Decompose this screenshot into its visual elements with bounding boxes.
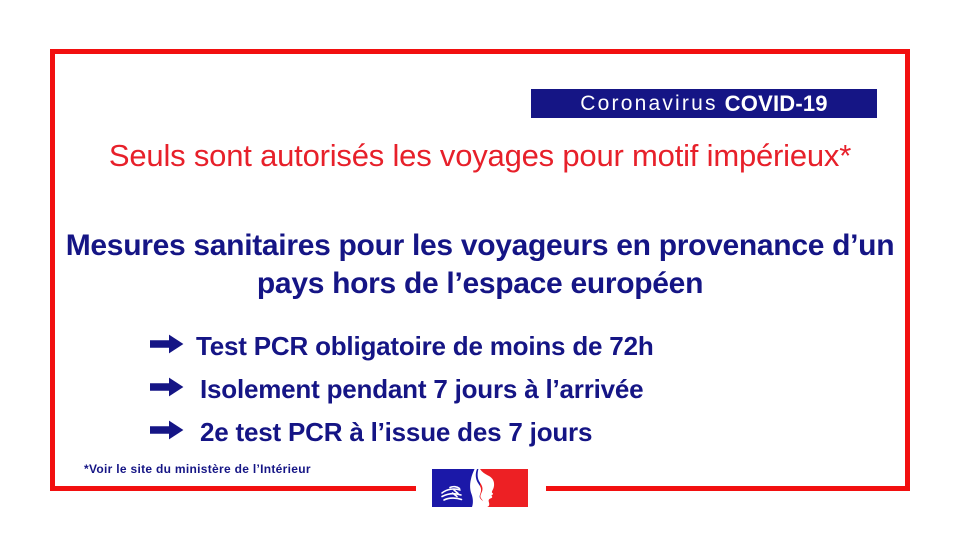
banner-covid-label: COVID-19	[725, 91, 828, 117]
footnote-text: *Voir le site du ministère de l’Intérieu…	[84, 462, 311, 476]
covid-travel-poster: Coronavirus COVID-19 Seuls sont autorisé…	[0, 0, 960, 540]
frame-border-bottom-left	[50, 486, 416, 491]
list-item: Test PCR obligatoire de moins de 72h	[150, 331, 850, 374]
frame-border-bottom-right	[546, 486, 910, 491]
list-item: Isolement pendant 7 jours à l’arrivée	[150, 374, 850, 417]
measure-label: 2e test PCR à l’issue des 7 jours	[196, 417, 592, 448]
measures-list: Test PCR obligatoire de moins de 72h Iso…	[150, 331, 850, 460]
measure-label: Isolement pendant 7 jours à l’arrivée	[196, 374, 643, 405]
banner-coronavirus-label: Coronavirus	[580, 92, 717, 116]
right-arrow-icon	[150, 420, 196, 440]
headline-text: Seuls sont autorisés les voyages pour mo…	[60, 136, 900, 177]
frame-border-right	[905, 49, 910, 491]
marianne-french-republic-logo	[428, 467, 532, 509]
right-arrow-icon	[150, 377, 196, 397]
measure-label: Test PCR obligatoire de moins de 72h	[196, 331, 654, 362]
subtitle-text: Mesures sanitaires pour les voyageurs en…	[55, 227, 905, 303]
coronavirus-banner: Coronavirus COVID-19	[531, 89, 877, 118]
frame-border-top	[50, 49, 910, 54]
list-item: 2e test PCR à l’issue des 7 jours	[150, 417, 850, 460]
right-arrow-icon	[150, 334, 196, 354]
